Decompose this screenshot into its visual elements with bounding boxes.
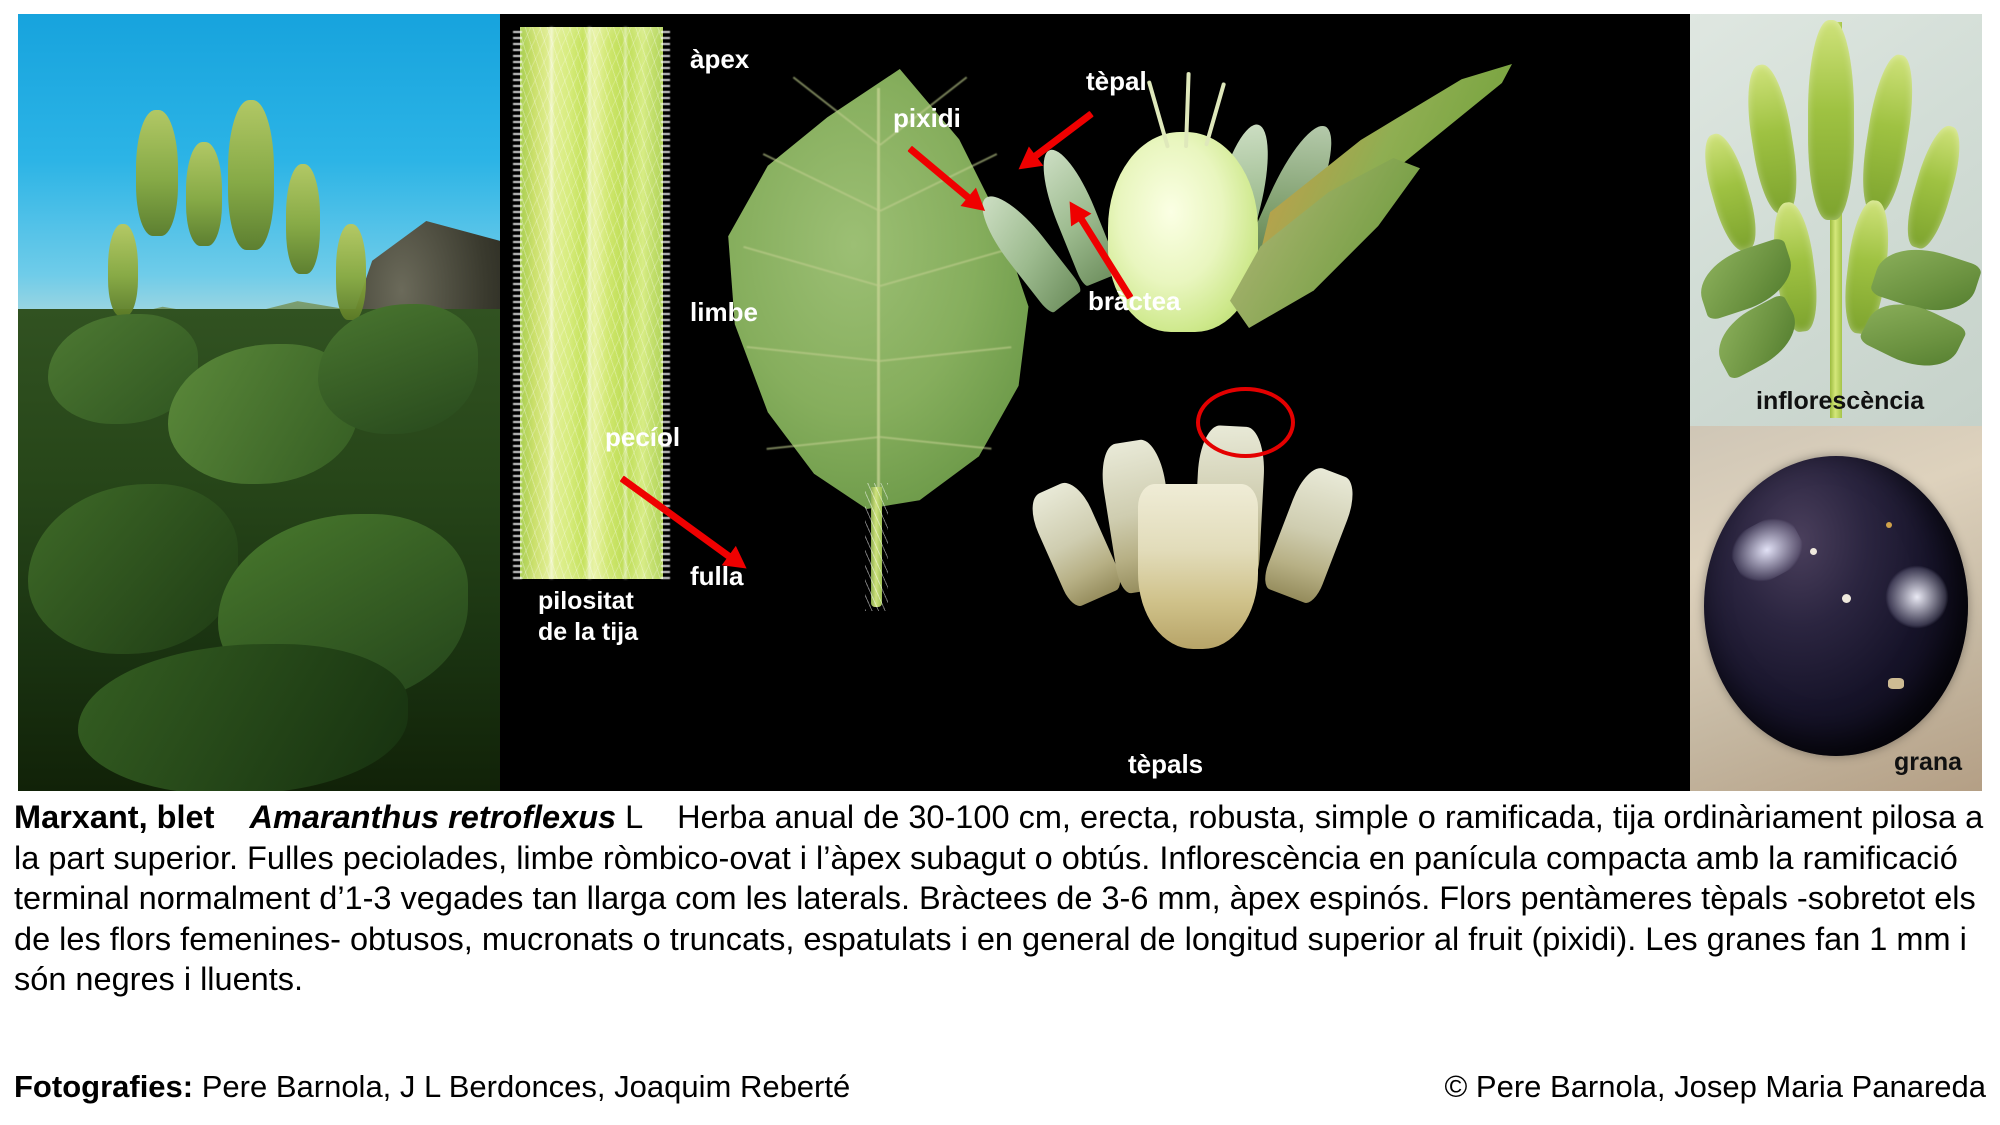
petiole-hairs (865, 483, 888, 611)
stem-hairiness-label: pilositat de la tija (538, 586, 638, 647)
leaf-limbe-label: limbe (690, 297, 758, 329)
tepals-label: tèpals (1128, 749, 1203, 781)
seed-speck (1888, 678, 1904, 689)
seed-speck (1842, 594, 1851, 603)
leaf-apex-label: àpex (690, 44, 749, 76)
panel-lab-details: pilositat de la tija àpex li (500, 14, 1690, 791)
panel-habit-photo (18, 14, 500, 791)
leaf-blade (715, 69, 1045, 509)
stem-rib (588, 27, 591, 579)
tepal-lobe (1260, 462, 1361, 606)
leaf-petiole (871, 487, 882, 607)
highlight-circle-marker (1196, 387, 1295, 458)
inflorescence-branch (1741, 62, 1804, 216)
poster-sheet: pilositat de la tija àpex li (0, 0, 2000, 1125)
panel-inflorescence: inflorescència (1690, 14, 1982, 426)
tepals-base (1138, 484, 1258, 649)
copyright-credit: © Pere Barnola, Josep Maria Panareda (1444, 1069, 1986, 1105)
leaf-macro-image (715, 69, 1045, 539)
image-plate: pilositat de la tija àpex li (18, 14, 1982, 791)
tepal-label: tèpal (1086, 66, 1147, 98)
seed-label: grana (1894, 748, 1962, 777)
plant-spike (286, 164, 320, 274)
plant-spike (228, 100, 274, 250)
stigma-branch (1204, 82, 1226, 147)
inflorescence-label: inflorescència (1756, 387, 1924, 416)
description-block: Marxant, blet Amaranthus retroflexus L H… (14, 797, 1986, 1000)
plant-spike (136, 110, 178, 236)
authority: L (625, 799, 642, 835)
plant-spike (186, 142, 222, 246)
seed-speck (1886, 522, 1892, 528)
plant-spike (108, 224, 138, 316)
pixidi-label: pixidi (893, 103, 961, 135)
latin-name: Amaranthus retroflexus (250, 799, 617, 835)
plant-spike (336, 224, 366, 320)
seed-speck (1810, 548, 1817, 555)
inflorescence-branch (1856, 52, 1921, 216)
flower-macro-image (1048, 54, 1498, 374)
common-name: Marxant, blet (14, 799, 214, 835)
photographers-names: Pere Barnola, J L Berdonces, Joaquim Reb… (193, 1069, 850, 1104)
tepals-macro-image (1060, 404, 1380, 674)
leaf-midrib (877, 88, 880, 530)
photographers-credit: Fotografies: Pere Barnola, J L Berdonces… (14, 1069, 850, 1105)
inflorescence-branch (1808, 20, 1854, 220)
inflorescence-branch (1899, 121, 1968, 252)
photographers-lead: Fotografies: (14, 1069, 193, 1104)
panel-seed: grana (1690, 426, 1982, 791)
credits-row: Fotografies: Pere Barnola, J L Berdonces… (14, 1069, 1986, 1105)
leaf-petiole-label: pecíol (605, 422, 680, 454)
stem-rib (550, 27, 553, 579)
